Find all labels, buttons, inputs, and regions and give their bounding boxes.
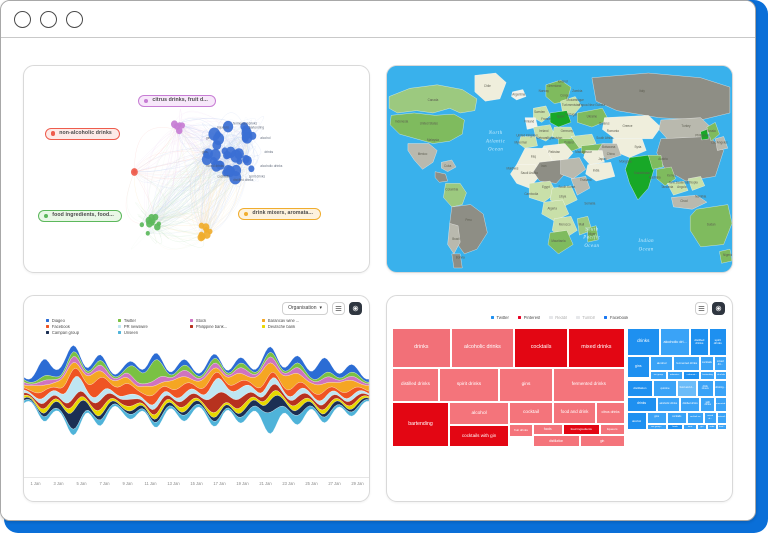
legend-label: Facebook bbox=[610, 316, 628, 320]
treemap-cell-1-5[interactable]: alcohol bbox=[650, 356, 673, 371]
streamgraph-panel[interactable]: Organisation ▾ Diag bbox=[23, 295, 370, 503]
treemap-cell-0-13[interactable]: citrus drinks bbox=[596, 402, 624, 424]
svg-text:South Africa: South Africa bbox=[596, 136, 613, 140]
svg-text:North: North bbox=[488, 130, 503, 136]
treemap-cell-label: drinks bbox=[414, 345, 428, 351]
svg-text:Syria: Syria bbox=[634, 145, 641, 149]
svg-text:cocktails: cocktails bbox=[217, 174, 230, 178]
svg-text:distilled drinks: distilled drinks bbox=[233, 178, 254, 182]
svg-text:Austria: Austria bbox=[658, 157, 668, 161]
legend-label: Barancav wine ... bbox=[268, 319, 299, 323]
svg-text:United Kingdom: United Kingdom bbox=[516, 133, 538, 137]
treemap-cell-1-3[interactable]: spirit drinks bbox=[709, 328, 727, 357]
legend-label: Reddit bbox=[555, 316, 567, 320]
treemap-cell-label: drink mixers bbox=[699, 386, 712, 391]
treemap-cell-1-1[interactable]: alcoholic dri... bbox=[660, 328, 690, 357]
svg-text:Bolivia: Bolivia bbox=[456, 255, 465, 259]
svg-text:Nigeria: Nigeria bbox=[723, 253, 732, 257]
streamgraph-legend-item-4[interactable]: Facebook bbox=[46, 325, 118, 329]
svg-text:Ocean: Ocean bbox=[584, 243, 599, 249]
legend-label: Diageo bbox=[52, 319, 65, 323]
treemap-cell-label: drinks bbox=[637, 339, 649, 344]
svg-text:Egypt: Egypt bbox=[542, 185, 550, 189]
svg-text:South Korea: South Korea bbox=[558, 185, 575, 189]
browser-window: drinksalcoholic drinksspirit drinksdisti… bbox=[0, 0, 756, 521]
streamgraph-x-axis: 1 Jan3 Jan5 Jan7 Jan9 Jan11 Jan13 Jan15 … bbox=[24, 477, 369, 501]
treemap-cell-0-16[interactable]: food ingredients bbox=[563, 424, 600, 436]
svg-text:Mozambique: Mozambique bbox=[567, 98, 585, 102]
x-axis-tick-14: 29 Jan bbox=[346, 481, 369, 486]
treemap-cell-label: bartend... bbox=[717, 416, 726, 418]
legend-label: PR newswire bbox=[124, 325, 148, 329]
treemap-cell-label: gin bbox=[700, 426, 703, 428]
treemap-cell-label: spirit drinks bbox=[711, 339, 725, 345]
treemap-cell-1-32[interactable]: tonic bbox=[683, 424, 696, 431]
svg-text:gin: gin bbox=[206, 136, 210, 140]
list-view-button[interactable] bbox=[332, 302, 345, 315]
treemap-legend: TwitterPinterestRedditTumblrFacebook bbox=[387, 316, 732, 320]
svg-text:Pakistan: Pakistan bbox=[548, 150, 560, 154]
treemap-cell-1-25[interactable]: gins bbox=[647, 412, 667, 424]
treemap-cell-label: food and drink bbox=[561, 410, 589, 415]
legend-color-swatch bbox=[262, 319, 265, 322]
treemap-cell-label: alcohol bbox=[632, 420, 641, 423]
cluster-label: citrus drinks, fruit d... bbox=[152, 98, 208, 103]
treemap-cell-label: quinine bbox=[661, 387, 670, 390]
svg-text:Argentina: Argentina bbox=[512, 92, 525, 96]
treemap-cell-1-8[interactable]: mixed dri... bbox=[714, 356, 727, 371]
streamgraph-legend-item-2[interactable]: Stock bbox=[190, 319, 262, 323]
legend-color-swatch bbox=[576, 316, 579, 319]
streamgraph-legend-item-1[interactable]: Twitter bbox=[118, 319, 190, 323]
treemap-cell-1-6[interactable]: fermented drinks bbox=[673, 356, 700, 371]
treemap-cell-0-19[interactable]: gin bbox=[580, 435, 625, 447]
treemap-legend-item-3[interactable]: Tumblr bbox=[576, 316, 595, 320]
treemap-cell-label: soda bbox=[710, 426, 715, 428]
treemap-cell-label: fermented drinks bbox=[572, 382, 606, 387]
treemap-cell-1-28[interactable]: mixed dr... bbox=[704, 412, 717, 424]
treemap-cell-label: ars group... bbox=[651, 426, 662, 428]
streamgraph-legend-item-3[interactable]: Barancav wine ... bbox=[262, 319, 334, 323]
svg-text:Germany: Germany bbox=[561, 129, 574, 133]
legend-color-swatch bbox=[262, 325, 265, 328]
x-axis-tick-2: 5 Jan bbox=[70, 481, 93, 486]
treemap-cell-label: foods bbox=[544, 428, 552, 431]
svg-text:United States: United States bbox=[420, 122, 439, 126]
svg-text:Sudan: Sudan bbox=[707, 223, 716, 227]
svg-text:Philippines: Philippines bbox=[695, 133, 710, 137]
svg-text:Australia: Australia bbox=[649, 176, 661, 180]
svg-text:Afghanistan: Afghanistan bbox=[546, 136, 562, 140]
treemap-cell-0-10[interactable]: cocktails with gin bbox=[449, 425, 509, 447]
svg-text:Mexico: Mexico bbox=[418, 152, 428, 156]
legend-color-swatch bbox=[549, 316, 552, 319]
legend-label: Stock bbox=[196, 319, 206, 323]
cluster-color-dot bbox=[44, 214, 49, 219]
treemap-cell-1-17[interactable]: drink mixers bbox=[697, 380, 714, 397]
treemap-cell-label: drinks bbox=[637, 402, 646, 406]
svg-text:Portugal: Portugal bbox=[565, 112, 577, 116]
svg-text:Norway: Norway bbox=[539, 89, 550, 93]
treemap-cell-0-14[interactable]: fruit drinks bbox=[509, 424, 532, 437]
treemap-cell-1-31[interactable]: foods bbox=[667, 424, 684, 431]
treemap-cell-label: foods bbox=[672, 426, 677, 428]
svg-text:Cambodia: Cambodia bbox=[524, 192, 538, 196]
treemap-cell-0-9[interactable]: alcohol bbox=[449, 402, 509, 426]
treemap-cell-1-15[interactable]: quinine bbox=[653, 380, 676, 397]
treemap-cell-label: liqueurs bbox=[607, 428, 618, 431]
svg-text:Iceland: Iceland bbox=[558, 79, 568, 83]
treemap-cell-1-14[interactable]: distillation bbox=[627, 380, 654, 397]
legend-color-swatch bbox=[46, 319, 49, 322]
treemap-legend-item-2[interactable]: Reddit bbox=[549, 316, 567, 320]
treemap-cell-label: gin bbox=[600, 440, 604, 443]
legend-color-swatch bbox=[46, 325, 49, 328]
streamgraph-legend-item-5[interactable]: PR newswire bbox=[118, 325, 190, 329]
treemap-cell-label: food... bbox=[719, 426, 725, 428]
streamgraph-toolbar: Organisation ▾ bbox=[282, 302, 362, 315]
x-axis-tick-6: 13 Jan bbox=[162, 481, 185, 486]
network-cluster-chip-2[interactable]: food ingredients, food... bbox=[38, 210, 122, 222]
treemap-cell-1-33[interactable]: gin bbox=[697, 424, 707, 431]
treemap-panel[interactable]: TwitterPinterestRedditTumblrFacebook dri… bbox=[386, 295, 733, 503]
svg-text:Los Angeles: Los Angeles bbox=[711, 140, 728, 144]
network-cluster-chip-0[interactable]: citrus drinks, fruit d... bbox=[138, 95, 216, 107]
treemap-cell-1-29[interactable]: bartend... bbox=[717, 412, 727, 424]
x-axis-tick-4: 9 Jan bbox=[116, 481, 139, 486]
treemap-cell-1-21[interactable]: distilled drinks bbox=[680, 397, 700, 412]
streamgraph-legend-item-6[interactable]: Philippine bank... bbox=[190, 325, 262, 329]
treemap-cell-0-12[interactable]: food and drink bbox=[553, 402, 597, 424]
treemap-cell-label: distillation bbox=[549, 440, 563, 443]
dashboard-content: drinksalcoholic drinksspirit drinksdisti… bbox=[1, 39, 755, 520]
svg-text:Kenya: Kenya bbox=[667, 173, 676, 177]
treemap-cell-label: alcohol bbox=[657, 362, 667, 365]
cluster-color-dot bbox=[244, 212, 249, 217]
treemap-cell-0-4[interactable]: distilled drinks bbox=[392, 368, 439, 402]
treemap-cell-label: split drinks bbox=[702, 402, 713, 407]
treemap-cell-0-3[interactable]: mixed drinks bbox=[568, 328, 625, 368]
treemap-cell-1-12[interactable]: bartending bbox=[700, 371, 715, 379]
treemap-cell-label: cocktail ice bbox=[690, 416, 701, 418]
svg-text:Turkey: Turkey bbox=[681, 124, 691, 128]
x-axis-tick-8: 17 Jan bbox=[208, 481, 231, 486]
organisation-select-label: Organisation bbox=[288, 306, 316, 311]
svg-text:Indian: Indian bbox=[637, 238, 654, 244]
treemap-cell-label: drinking... bbox=[715, 387, 725, 390]
streamgraph-legend-item-8[interactable]: Campari group bbox=[46, 331, 118, 335]
x-axis-tick-0: 1 Jan bbox=[24, 481, 47, 486]
svg-text:Ethiopia: Ethiopia bbox=[687, 180, 698, 184]
legend-label: Twitter bbox=[124, 319, 136, 323]
legend-label: Campari group bbox=[52, 331, 79, 335]
legend-label: Deutsche bank bbox=[268, 325, 295, 329]
treemap-cell-1-0[interactable]: drinks bbox=[627, 328, 661, 357]
network-cluster-chip-1[interactable]: non-alcoholic drinks bbox=[45, 128, 120, 140]
treemap-cell-label: cocktails bbox=[702, 362, 712, 365]
treemap-cell-label: distilled drinks bbox=[401, 382, 430, 387]
settings-button[interactable] bbox=[349, 302, 362, 315]
treemap-cell-label: mixed drinks bbox=[581, 345, 611, 351]
x-axis-tick-13: 27 Jan bbox=[323, 481, 346, 486]
svg-text:Finland: Finland bbox=[524, 119, 534, 123]
treemap-cell-label: fruit drinks bbox=[514, 429, 528, 432]
treemap-cell-label: cocktails bbox=[672, 416, 681, 419]
settings-icon bbox=[352, 305, 359, 312]
maximize-button[interactable] bbox=[66, 11, 83, 28]
legend-color-swatch bbox=[46, 331, 49, 334]
svg-text:Chile: Chile bbox=[484, 84, 491, 88]
svg-text:gins: gins bbox=[202, 150, 208, 154]
svg-text:Madagascar: Madagascar bbox=[575, 150, 593, 154]
treemap-cell-label: distilled drinks bbox=[683, 403, 698, 406]
treemap-cell-label: tonic bbox=[688, 426, 693, 428]
streamgraph-legend-item-9[interactable]: Unseen bbox=[118, 331, 190, 335]
treemap-cell-label: alcohols bbox=[717, 374, 725, 376]
treemap-cell-label: citrus drinks bbox=[602, 411, 620, 415]
treemap-cell-label: cocktails with gin bbox=[462, 434, 496, 439]
svg-text:Namibia: Namibia bbox=[695, 194, 706, 198]
treemap-list-view-button[interactable] bbox=[695, 302, 708, 315]
treemap-cell-0-2[interactable]: cocktails bbox=[514, 328, 568, 368]
treemap-cell-1-22[interactable]: split drinks bbox=[700, 397, 715, 412]
treemap-cell-0-15[interactable]: foods bbox=[533, 424, 563, 436]
legend-label: Pinterest bbox=[524, 316, 541, 320]
svg-text:China: China bbox=[607, 152, 615, 156]
svg-text:Libya: Libya bbox=[559, 194, 566, 198]
streamgraph-legend: DiageoTwitterStockBarancav wine ...Faceb… bbox=[46, 319, 357, 335]
treemap-cell-label: carbonat... bbox=[687, 374, 697, 376]
treemap-cell-1-30[interactable]: ars group... bbox=[647, 424, 667, 431]
treemap-cell-1-10[interactable]: ardmatar... bbox=[667, 371, 684, 379]
svg-text:Indonesia: Indonesia bbox=[395, 119, 408, 123]
treemap-cell-label: gins bbox=[635, 365, 642, 369]
svg-text:Greenland: Greenland bbox=[547, 84, 561, 88]
svg-text:Poland: Poland bbox=[564, 140, 574, 144]
treemap-cell-1-13[interactable]: alcohols bbox=[715, 371, 727, 379]
treemap-cell-1-9[interactable]: ars group bbox=[650, 371, 667, 379]
legend-color-swatch bbox=[491, 316, 494, 319]
treemap-cell-0-17[interactable]: liqueurs bbox=[600, 424, 625, 436]
chevron-down-icon: ▾ bbox=[319, 306, 322, 311]
treemap-cell-0-11[interactable]: cocktail bbox=[509, 402, 553, 424]
treemap-legend-item-0[interactable]: Twitter bbox=[491, 316, 509, 320]
svg-text:Thailand: Thailand bbox=[580, 178, 592, 182]
svg-text:Sweden: Sweden bbox=[534, 110, 545, 114]
svg-text:Russia: Russia bbox=[706, 129, 715, 133]
treemap-cell-label: food and d... bbox=[680, 387, 694, 390]
list-view-icon bbox=[335, 305, 342, 312]
legend-color-swatch bbox=[190, 325, 193, 328]
legend-label: Philippine bank... bbox=[196, 325, 227, 329]
svg-text:Canada: Canada bbox=[428, 98, 439, 102]
treemap-cell-0-7[interactable]: fermented drinks bbox=[553, 368, 625, 402]
svg-text:Kazakhstan: Kazakhstan bbox=[634, 171, 650, 175]
svg-text:Angola: Angola bbox=[677, 185, 687, 189]
svg-text:Niger: Niger bbox=[588, 232, 596, 236]
svg-text:Botswana: Botswana bbox=[602, 145, 615, 149]
svg-text:Turkmenistan: Turkmenistan bbox=[562, 103, 580, 107]
svg-text:alcoholic drinks: alcoholic drinks bbox=[260, 164, 282, 168]
treemap-cell-label: alcoholic dri... bbox=[663, 340, 686, 344]
svg-text:Congo: Congo bbox=[560, 93, 569, 97]
treemap-cell-0-1[interactable]: alcoholic drinks bbox=[451, 328, 515, 368]
cluster-color-dot bbox=[144, 99, 149, 104]
svg-text:Atlantic: Atlantic bbox=[485, 138, 505, 144]
svg-text:Chad: Chad bbox=[680, 199, 687, 203]
streamgraph-canvas bbox=[24, 338, 369, 443]
svg-text:drinks: drinks bbox=[264, 150, 273, 154]
x-axis-tick-5: 11 Jan bbox=[139, 481, 162, 486]
legend-color-swatch bbox=[190, 319, 193, 322]
treemap-cell-label: cocktails bbox=[531, 345, 552, 351]
treemap-cell-label: spirit drinks bbox=[457, 382, 481, 387]
x-axis-tick-10: 21 Jan bbox=[254, 481, 277, 486]
svg-text:Tanzania: Tanzania bbox=[661, 185, 673, 189]
treemap-cell-1-19[interactable]: drinks bbox=[627, 397, 657, 412]
svg-text:Ukraine: Ukraine bbox=[587, 114, 598, 118]
cluster-label: drink mixers, aromata... bbox=[252, 211, 313, 216]
treemap-legend-item-1[interactable]: Pinterest bbox=[518, 316, 540, 320]
treemap-cell-label: fermented drinks bbox=[676, 362, 697, 365]
svg-text:Mongolia: Mongolia bbox=[619, 159, 631, 163]
svg-text:Zambia: Zambia bbox=[572, 89, 582, 93]
treemap-cell-1-4[interactable]: gins bbox=[627, 356, 650, 378]
treemap-toolbar bbox=[695, 302, 725, 315]
treemap-cell-0-18[interactable]: distillation bbox=[533, 435, 580, 447]
treemap-cell-0-6[interactable]: gins bbox=[499, 368, 553, 402]
treemap-cell-label: cocktail bbox=[523, 410, 539, 415]
svg-text:Romania: Romania bbox=[607, 129, 619, 133]
treemap-cell-label: distillation bbox=[633, 387, 646, 390]
x-axis-tick-11: 23 Jan bbox=[277, 481, 300, 486]
svg-text:Malaysia: Malaysia bbox=[427, 138, 439, 142]
legend-color-swatch bbox=[118, 319, 121, 322]
svg-text:Iran: Iran bbox=[541, 164, 546, 168]
x-axis-tick-12: 25 Jan bbox=[300, 481, 323, 486]
treemap-cell-1-7[interactable]: cocktails bbox=[700, 356, 713, 371]
svg-text:Colombia: Colombia bbox=[445, 187, 458, 191]
svg-text:Ocean: Ocean bbox=[488, 146, 503, 152]
minimize-button[interactable] bbox=[40, 11, 57, 28]
treemap-cell-label: gins bbox=[654, 416, 659, 419]
legend-label: Facebook bbox=[52, 325, 70, 329]
treemap-cell-1-20[interactable]: alcoholic drinks bbox=[657, 397, 680, 412]
svg-text:Peru: Peru bbox=[465, 218, 472, 222]
svg-text:Mauritania: Mauritania bbox=[551, 239, 565, 243]
x-axis-tick-3: 7 Jan bbox=[93, 481, 116, 486]
browser-titlebar bbox=[1, 1, 755, 38]
svg-text:Morocco: Morocco bbox=[559, 223, 571, 227]
treemap-cell-1-16[interactable]: food and d... bbox=[677, 380, 697, 397]
treemap-cell-1-24[interactable]: alcohol bbox=[627, 412, 647, 431]
treemap-cell-1-23[interactable]: fermented... bbox=[715, 397, 727, 412]
treemap-cell-label: alcoholic drinks bbox=[659, 403, 677, 406]
network-cluster-chip-3[interactable]: drink mixers, aromata... bbox=[238, 208, 321, 220]
svg-text:France: France bbox=[541, 117, 551, 121]
dashboard-grid: drinksalcoholic drinksspirit drinksdisti… bbox=[23, 65, 733, 502]
svg-text:Greece: Greece bbox=[622, 124, 632, 128]
streamgraph-legend-item-0[interactable]: Diageo bbox=[46, 319, 118, 323]
treemap-cell-label: alcohol bbox=[471, 411, 486, 416]
svg-text:Myanmar: Myanmar bbox=[515, 140, 528, 144]
treemap-settings-button[interactable] bbox=[712, 302, 725, 315]
svg-text:alcohol: alcohol bbox=[260, 136, 270, 140]
treemap-cell-label: bartending bbox=[408, 422, 433, 427]
treemap-cell-0-5[interactable]: spirit drinks bbox=[439, 368, 499, 402]
svg-text:Japan: Japan bbox=[598, 157, 606, 161]
cluster-color-dot bbox=[51, 131, 56, 136]
svg-text:Papua New Guinea: Papua New Guinea bbox=[579, 103, 605, 107]
treemap-cell-1-26[interactable]: cocktails bbox=[667, 412, 687, 424]
treemap-cell-label: distilled drinks bbox=[692, 339, 706, 345]
treemap-cell-1-35[interactable]: food... bbox=[717, 424, 727, 431]
svg-text:Brazil: Brazil bbox=[452, 237, 460, 241]
close-button[interactable] bbox=[14, 11, 31, 28]
svg-text:liqueurs: liqueurs bbox=[217, 125, 229, 129]
svg-text:Ocean: Ocean bbox=[639, 246, 654, 252]
treemap-cell-0-8[interactable]: bartending bbox=[392, 402, 449, 447]
legend-label: Twitter bbox=[497, 316, 509, 320]
svg-text:mixed drinks: mixed drinks bbox=[206, 164, 224, 168]
legend-color-swatch bbox=[604, 316, 607, 319]
svg-text:Algeria: Algeria bbox=[547, 206, 557, 210]
treemap-cell-1-34[interactable]: soda bbox=[707, 424, 717, 431]
treemap-cell-1-11[interactable]: carbonat... bbox=[683, 371, 700, 379]
treemap-cell-label: ardmatar... bbox=[670, 374, 680, 376]
legend-label: Tumblr bbox=[582, 316, 595, 320]
world-map-panel[interactable]: NorthAtlanticOceanIndianOceanSouthPacifi… bbox=[386, 65, 733, 273]
treemap-cell-1-27[interactable]: cocktail ice bbox=[687, 412, 704, 424]
treemap-cell-1-18[interactable]: drinking... bbox=[714, 380, 727, 397]
list-view-icon bbox=[698, 305, 705, 312]
svg-text:Ireland: Ireland bbox=[539, 129, 548, 133]
svg-text:Saudi Arabia: Saudi Arabia bbox=[521, 171, 538, 175]
treemap-cell-1-2[interactable]: distilled drinks bbox=[690, 328, 708, 357]
treemap-cell-label: gins bbox=[522, 382, 531, 387]
settings-icon bbox=[715, 305, 722, 312]
treemap-cell-label: bartending bbox=[703, 374, 713, 376]
treemap-cell-label: mixed dri... bbox=[716, 361, 725, 366]
legend-color-swatch bbox=[518, 316, 521, 319]
svg-text:bartending: bartending bbox=[249, 125, 264, 129]
svg-text:Cuba: Cuba bbox=[444, 164, 451, 168]
x-axis-tick-9: 19 Jan bbox=[231, 481, 254, 486]
treemap-cell-label: mixed dr... bbox=[706, 415, 715, 420]
svg-text:Maldives: Maldives bbox=[506, 166, 518, 170]
treemap-legend-item-4[interactable]: Facebook bbox=[604, 316, 628, 320]
streamgraph-legend-item-7[interactable]: Deutsche bank bbox=[262, 325, 334, 329]
svg-text:India: India bbox=[593, 169, 600, 173]
svg-text:Spain: Spain bbox=[557, 114, 565, 118]
svg-text:Italy: Italy bbox=[639, 89, 645, 93]
svg-text:Mali: Mali bbox=[579, 223, 585, 227]
treemap-cell-0-0[interactable]: drinks bbox=[392, 328, 451, 368]
network-graph-panel[interactable]: drinksalcoholic drinksspirit drinksdisti… bbox=[23, 65, 370, 273]
x-axis-tick-1: 3 Jan bbox=[47, 481, 70, 486]
treemap-cell-label: fermented... bbox=[715, 403, 727, 405]
svg-text:Iraq: Iraq bbox=[531, 154, 536, 158]
svg-text:New Zealand: New Zealand bbox=[669, 180, 687, 184]
organisation-select[interactable]: Organisation ▾ bbox=[282, 302, 328, 315]
svg-text:Somalia: Somalia bbox=[584, 201, 595, 205]
x-axis-tick-7: 15 Jan bbox=[185, 481, 208, 486]
treemap-canvas: drinksalcoholic drinkscocktailsmixed dri… bbox=[392, 328, 727, 497]
world-map-canvas: NorthAtlanticOceanIndianOceanSouthPacifi… bbox=[387, 66, 732, 272]
treemap-cell-label: food ingredients bbox=[571, 428, 592, 431]
svg-text:Belarus: Belarus bbox=[599, 122, 610, 126]
legend-label: Unseen bbox=[124, 331, 138, 335]
